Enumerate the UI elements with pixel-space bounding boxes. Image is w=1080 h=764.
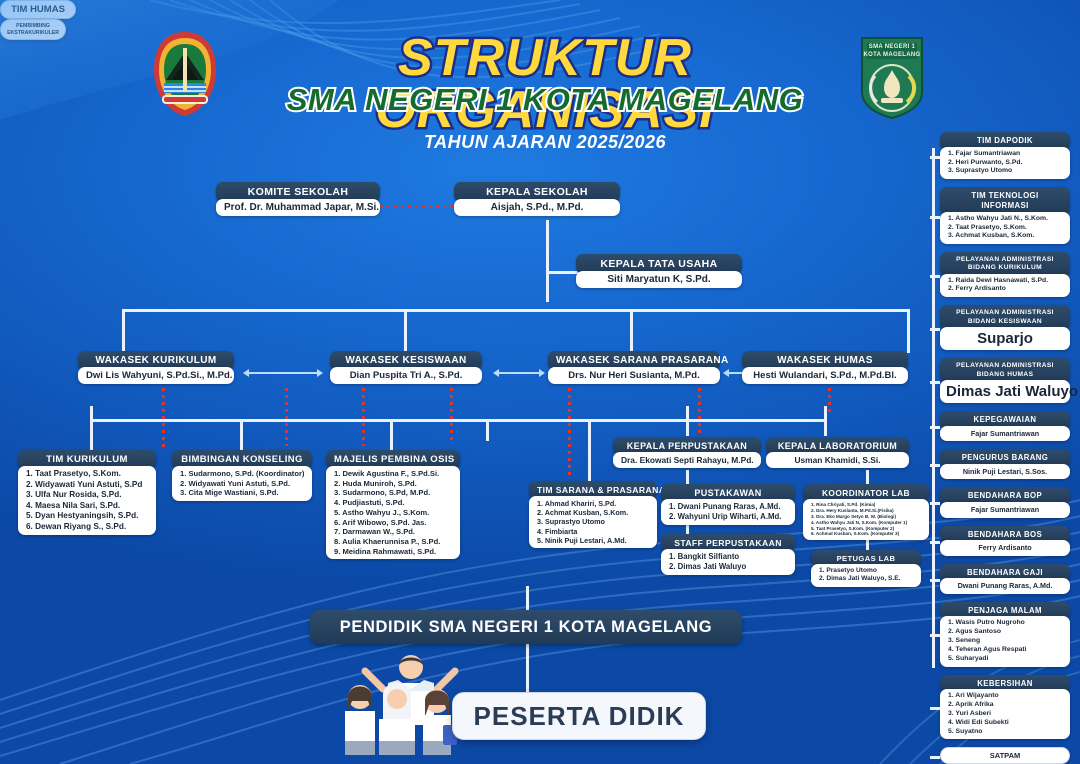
list-item: 3. Sudarmono, S.Pd, M.Pd. <box>334 488 452 498</box>
sidebar-connector-tick <box>930 381 940 384</box>
connector-ekskul-drop <box>486 419 489 441</box>
list-item: 5. Suyatno <box>948 728 1062 737</box>
list-item: 2. Widyawati Yuni Astuti, S.Pd. <box>180 479 304 489</box>
list-item: 2. Wahyuni Urip Wiharti, A.Md. <box>669 512 787 522</box>
provinsi-jawa-tengah-emblem <box>150 28 220 120</box>
node-koordinator-lab[interactable]: KOORDINATOR LAB 1. Rina Chriyati, S.Pd. … <box>803 484 929 540</box>
sidebar-item-pengurus-barang[interactable]: PENGURUS BARANGNinik Puji Lestari, S.Sos… <box>940 449 1070 479</box>
connector-komite-dotted <box>380 205 454 208</box>
list-item: Ninik Puji Lestari, S.Sos. <box>948 467 1062 476</box>
connector-wakasek-bus <box>122 309 910 312</box>
sidebar-connector-tick <box>930 634 940 637</box>
sidebar-connector-tick <box>930 464 940 467</box>
sidebar-connector-tick <box>930 216 940 219</box>
node-wakasek-sarana-prasarana[interactable]: WAKASEK SARANA PRASARANA Drs. Nur Heri S… <box>548 351 720 384</box>
list-item: 4. Maesa Nila Sari, S.Pd. <box>26 501 148 512</box>
list-item: Fajar Sumantriawan <box>948 429 1062 438</box>
list-item: Ferry Ardisanto <box>948 543 1062 552</box>
node-kepala-sekolah[interactable]: KEPALA SEKOLAH Aisjah, S.Pd., M.Pd. <box>454 182 620 216</box>
list-item: 2. Dimas Jati Waluyo <box>669 562 787 572</box>
connector-lab-drop <box>824 406 827 436</box>
node-komite-sekolah[interactable]: KOMITE SEKOLAH Prof. Dr. Muhammad Japar,… <box>216 182 380 216</box>
list-item: 8. Aulia Khaerunnisa P., S.Pd. <box>334 537 452 547</box>
node-staff-perpustakaan[interactable]: STAFF PERPUSTAKAAN 1. Bangkit Silfianto2… <box>661 534 795 575</box>
list-item: 1. Dwani Punang Raras, A.Md. <box>669 502 787 512</box>
connector-tim-kurikulum-drop <box>90 406 93 451</box>
komite-name: Prof. Dr. Muhammad Japar, M.Si. <box>216 199 380 216</box>
sidebar-connector-tick <box>930 541 940 544</box>
connector-bk-drop <box>240 419 243 451</box>
sidebar-item-kebersihan[interactable]: KEBERSIHAN1. Ari Wijayanto2. Aprik Afrik… <box>940 675 1070 740</box>
kepala-lab-name: Usman Khamidi, S.Si. <box>766 452 909 468</box>
logo-text-line1: SMA NEGERI 1 <box>857 44 927 50</box>
list-item: 1. Fajar Sumantriawan <box>948 150 1062 159</box>
sidebar-bus-vertical <box>932 148 935 668</box>
node-petugas-lab[interactable]: PETUGAS LAB 1. Prasetyo Utomo2. Dimas Ja… <box>811 550 921 587</box>
node-wakasek-kurikulum[interactable]: WAKASEK KURIKULUM Dwi Lis Wahyuni, S.Pd.… <box>78 351 234 384</box>
peserta-didik-label: PESERTA DIDIK <box>474 701 685 732</box>
wakasek-humas-name: Hesti Wulandari, S.Pd., M.Pd.Bl. <box>742 367 908 384</box>
osis-members: 1. Dewik Agustina F., S.Pd.Si.2. Huda Mu… <box>326 466 460 559</box>
connector-drop-kurikulum <box>122 309 125 353</box>
school-name: SMA NEGERI 1 KOTA MAGELANG <box>225 84 865 115</box>
list-item: Dwani Punang Raras, A.Md. <box>948 581 1062 590</box>
connector-perpus-drop <box>686 406 689 436</box>
list-item: 2. Ferry Ardisanto <box>948 285 1062 294</box>
sidebar-item-members: 1. Astho Wahyu Jati N., S.Kom.2. Taat Pr… <box>940 212 1070 244</box>
dotted-humas-1 <box>828 388 831 414</box>
sidebar-administration-list: TIM DAPODIK1. Fajar Sumantriawan2. Heri … <box>940 132 1070 764</box>
pustakawan-members: 1. Dwani Punang Raras, A.Md.2. Wahyuni U… <box>661 499 795 525</box>
koordinator-lab-members: 1. Rina Chriyati, S.Pd. (Kimia)2. Dra. H… <box>803 499 929 540</box>
list-item: 3. Seneng <box>948 637 1062 646</box>
node-kepala-laboratorium[interactable]: KEPALA LABORATORIUM Usman Khamidi, S.Si. <box>766 437 909 468</box>
sidebar-connector-tick <box>930 579 940 582</box>
dotted-kesiswaan-2 <box>362 388 365 446</box>
petugas-lab-members: 1. Prasetyo Utomo2. Dimas Jati Waluyo, S… <box>811 564 921 587</box>
pendidik-banner-label: PENDIDIK SMA NEGERI 1 KOTA MAGELANG <box>340 618 712 637</box>
node-majelis-pembina-osis[interactable]: MAJELIS PEMBINA OSIS 1. Dewik Agustina F… <box>326 450 460 559</box>
tim-kurikulum-members: 1. Taat Prasetyo, S.Kom.2. Widyawati Yun… <box>18 466 156 535</box>
list-item: 9. Meidina Rahmawati, S.Pd. <box>334 547 452 557</box>
bk-members: 1. Sudarmono, S.Pd. (Koordinator)2. Widy… <box>172 466 312 501</box>
wakasek-kurikulum-name: Dwi Lis Wahyuni, S.Pd.Si., M.Pd. <box>78 367 234 384</box>
tim-humas-title: TIM HUMAS <box>11 4 65 15</box>
list-item: 2. Huda Muniroh, S.Pd. <box>334 479 452 489</box>
sidebar-connector-tick <box>930 707 940 710</box>
wakasek-sarpras-name: Drs. Nur Heri Susianta, M.Pd. <box>548 367 720 384</box>
list-item: 4. Pudjiastuti, S.Pd. <box>334 498 452 508</box>
connector-drop-sarpras <box>630 309 633 353</box>
list-item: 3. Yuri Asberi <box>948 710 1062 719</box>
node-kepala-perpustakaan[interactable]: KEPALA PERPUSTAKAAN Dra. Ekowati Septi R… <box>613 437 761 468</box>
staff-perpus-members: 1. Bangkit Silfianto2. Dimas Jati Waluyo <box>661 549 795 575</box>
pembimbing-ekskul-title: PEMBIMBING EKSTRAKURIKULER <box>7 23 59 36</box>
sidebar-item-pelayanan-administrasi-bidang-kesiswaan[interactable]: PELAYANAN ADMINISTRASI BIDANG KESISWAANS… <box>940 305 1070 350</box>
node-bimbingan-konseling[interactable]: BIMBINGAN KONSELING 1. Sudarmono, S.Pd. … <box>172 450 312 501</box>
list-item: 2. Agus Santoso <box>948 628 1062 637</box>
sidebar-connector-tick <box>930 426 940 429</box>
list-item: 1. Astho Wahyu Jati N., S.Kom. <box>948 215 1062 224</box>
sidebar-item-members: 1. Wasis Putro Nugroho2. Agus Santoso3. … <box>940 616 1070 666</box>
dotted-sarpras-2 <box>698 388 701 440</box>
list-item: 6. Achmat Kusban, S.Kom. (Komputer 3) <box>811 531 921 537</box>
sidebar-item-title: TIM TEKNOLOGI INFORMASI <box>940 187 1070 214</box>
arrow-kurikulum-kesiswaan <box>248 372 318 374</box>
list-item: 2. Taat Prasetyo, S.Kom. <box>948 224 1062 233</box>
connector-osis-drop <box>390 419 393 451</box>
sidebar-connector-tick <box>930 275 940 278</box>
sidebar-item-pelayanan-administrasi-bidang-kurikulum[interactable]: PELAYANAN ADMINISTRASI BIDANG KURIKULUM1… <box>940 252 1070 297</box>
sidebar-item-pelayanan-administrasi-bidang-humas[interactable]: PELAYANAN ADMINISTRASI BIDANG HUMASDimas… <box>940 358 1070 403</box>
sidebar-item-title: PELAYANAN ADMINISTRASI BIDANG KURIKULUM <box>940 252 1070 276</box>
sidebar-item-members: 1. Raida Dewi Hasnawati, S.Pd.2. Ferry A… <box>940 274 1070 298</box>
list-item: 5. Suharyadi <box>948 655 1062 664</box>
list-item: 1. Raida Dewi Hasnawati, S.Pd. <box>948 277 1062 286</box>
node-wakasek-humas[interactable]: WAKASEK HUMAS Hesti Wulandari, S.Pd., M.… <box>742 351 908 384</box>
list-item: 3. Achmat Kusban, S.Kom. <box>948 232 1062 241</box>
list-item: 6. Dewan Riyang S., S.Pd. <box>26 522 148 533</box>
list-item: 4. Widi Edi Subekti <box>948 719 1062 728</box>
sidebar-item-members: Fajar Sumantriawan <box>940 426 1070 441</box>
sarana-members: 1. Ahmad Khariri, S.Pd.2. Achmat Kusban,… <box>529 496 657 548</box>
kepala-tu-name: Siti Maryatun K, S.Pd. <box>576 271 742 288</box>
organizational-chart-poster: STRUKTUR ORGANISASI SMA NEGERI 1 KOTA MA… <box>0 0 1080 764</box>
sidebar-item-bendahara-gaji[interactable]: BENDAHARA GAJIDwani Punang Raras, A.Md. <box>940 564 1070 594</box>
sidebar-item-members: Ninik Puji Lestari, S.Sos. <box>940 464 1070 479</box>
sidebar-connector-tick <box>930 156 940 159</box>
dotted-sarpras-1 <box>568 388 571 478</box>
pendidik-banner[interactable]: PENDIDIK SMA NEGERI 1 KOTA MAGELANG <box>310 610 742 644</box>
sidebar-item-members: Dimas Jati Waluyo <box>940 380 1070 404</box>
dotted-kesiswaan-3 <box>450 388 453 442</box>
list-item: 1. Wasis Putro Nugroho <box>948 619 1062 628</box>
arrow-kesiswaan-sarpras <box>498 372 540 374</box>
sidebar-item-members: Suparjo <box>940 327 1070 351</box>
list-item: 1. Bangkit Silfianto <box>669 552 787 562</box>
list-item: Suparjo <box>946 329 1064 349</box>
connector-sarana-drop <box>588 419 591 486</box>
logo-text-line2: KOTA MAGELANG <box>857 52 927 58</box>
list-item: 2. Achmat Kusban, S.Kom. <box>537 508 649 517</box>
node-tim-kurikulum[interactable]: TIM KURIKULUM 1. Taat Prasetyo, S.Kom.2.… <box>18 450 156 535</box>
connector-kepsek-vertical <box>546 220 549 302</box>
list-item: 4. Teheran Agus Respati <box>948 646 1062 655</box>
list-item: 1. Dewik Agustina F., S.Pd.Si. <box>334 469 452 479</box>
sidebar-connector-tick <box>930 502 940 505</box>
sidebar-item-members: 1. Ari Wijayanto2. Aprik Afrika3. Yuri A… <box>940 689 1070 739</box>
sidebar-item-tim-teknologi-informasi[interactable]: TIM TEKNOLOGI INFORMASI1. Astho Wahyu Ja… <box>940 187 1070 244</box>
node-tim-sarana-prasarana[interactable]: TIM SARANA & PRASARANA 1. Ahmad Khariri,… <box>529 481 657 548</box>
dotted-kesiswaan-1 <box>285 388 288 446</box>
sidebar-item-members: 1. Fajar Sumantriawan2. Heri Purwanto, S… <box>940 147 1070 179</box>
node-pustakawan[interactable]: PUSTAKAWAN 1. Dwani Punang Raras, A.Md.2… <box>661 484 795 525</box>
connector-to-pendidik <box>526 586 529 611</box>
node-wakasek-kesiswaan[interactable]: WAKASEK KESISWAAN Dian Puspita Tri A., S… <box>330 351 482 384</box>
list-item: 2. Dimas Jati Waluyo, S.E. <box>819 575 913 583</box>
sidebar-item-bendahara-bos[interactable]: BENDAHARA BOSFerry Ardisanto <box>940 526 1070 556</box>
dotted-kurikulum-1 <box>162 388 165 448</box>
sidebar-connector-tick <box>930 328 940 331</box>
list-item: Dimas Jati Waluyo <box>946 382 1064 402</box>
list-item: 3. Cita Mige Wastiani, S.Pd. <box>180 488 304 498</box>
sidebar-item-satpam[interactable]: SATPAM <box>940 747 1070 764</box>
list-item: Fajar Sumantriawan <box>948 505 1062 514</box>
sidebar-item-members: Dwani Punang Raras, A.Md. <box>940 578 1070 593</box>
node-kepala-tata-usaha[interactable]: KEPALA TATA USAHA Siti Maryatun K, S.Pd. <box>576 254 742 288</box>
sidebar-item-members: Fajar Sumantriawan <box>940 502 1070 517</box>
connector-drop-humas <box>907 309 910 353</box>
list-item: 1. Ari Wijayanto <box>948 692 1062 701</box>
sidebar-item-tim-dapodik[interactable]: TIM DAPODIK1. Fajar Sumantriawan2. Heri … <box>940 132 1070 179</box>
kepala-sekolah-name: Aisjah, S.Pd., M.Pd. <box>454 199 620 216</box>
wakasek-kesiswaan-name: Dian Puspita Tri A., S.Pd. <box>330 367 482 384</box>
list-item: 2. Heri Purwanto, S.Pd. <box>948 159 1062 168</box>
sidebar-item-title: SATPAM <box>940 747 1070 764</box>
connector-drop-kesiswaan <box>404 309 407 353</box>
list-item: 1. Ahmad Khariri, S.Pd. <box>537 499 649 508</box>
list-item: 3. Suprastyo Utomo <box>948 167 1062 176</box>
sidebar-item-kepegawaian[interactable]: KEPEGAWAIANFajar Sumantriawan <box>940 411 1070 441</box>
list-item: 1. Taat Prasetyo, S.Kom. <box>26 469 148 480</box>
list-item: 5. Dyan Hestyaningsih, S.Pd. <box>26 511 148 522</box>
list-item: 4. Astho Wahyu Jati N, S.Kom. (Komputer … <box>811 520 921 526</box>
list-item: 6. Arif Wibowo, S.Pd. Jas. <box>334 518 452 528</box>
node-tim-humas[interactable]: TIM HUMAS <box>0 0 76 19</box>
list-item: 7. Darmawan W., S.Pd. <box>334 527 452 537</box>
node-pembimbing-ekstrakurikuler[interactable]: PEMBIMBING EKSTRAKURIKULER <box>0 19 66 40</box>
connector-subunit-bus <box>90 419 825 422</box>
sma-negeri-1-kota-magelang-logo: SMA NEGERI 1 KOTA MAGELANG <box>857 36 927 120</box>
list-item: 3. Suprastyo Utomo <box>537 517 649 526</box>
sidebar-item-penjaga-malam[interactable]: PENJAGA MALAM1. Wasis Putro Nugroho2. Ag… <box>940 602 1070 667</box>
peserta-didik-banner[interactable]: PESERTA DIDIK <box>452 692 706 740</box>
list-item: 3. Ulfa Nur Rosida, S.Pd. <box>26 490 148 501</box>
list-item: 5. Astho Wahyu J., S.Kom. <box>334 508 452 518</box>
academic-year: TAHUN AJARAN 2025/2026 <box>225 132 865 153</box>
kepala-perpus-name: Dra. Ekowati Septi Rahayu, M.Pd. <box>613 452 761 468</box>
list-item: 2. Aprik Afrika <box>948 701 1062 710</box>
list-item: 5. Ninik Puji Lestari, A.Md. <box>537 536 649 545</box>
connector-to-peserta <box>526 644 529 692</box>
list-item: 2. Widyawati Yuni Astuti, S.Pd <box>26 480 148 491</box>
list-item: 1. Prasetyo Utomo <box>819 567 913 575</box>
sidebar-connector-tick <box>930 756 940 759</box>
list-item: 4. Fimbiarta <box>537 527 649 536</box>
list-item: 1. Sudarmono, S.Pd. (Koordinator) <box>180 469 304 479</box>
sidebar-item-members: Ferry Ardisanto <box>940 540 1070 555</box>
sidebar-item-bendahara-bop[interactable]: BENDAHARA BOPFajar Sumantriawan <box>940 487 1070 517</box>
